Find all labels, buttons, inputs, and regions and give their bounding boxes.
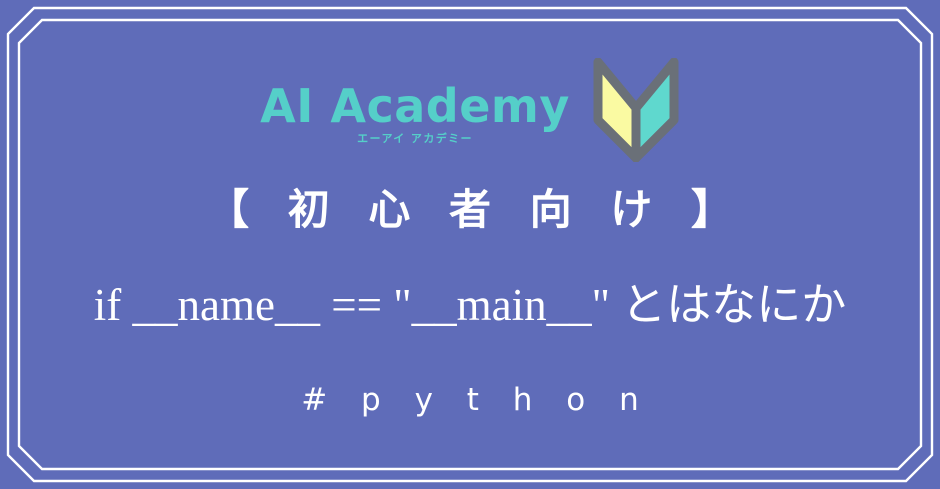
page-title: 【 初 心 者 向 け 】 <box>0 183 940 237</box>
logo-wordmark: AI Academy <box>260 81 570 131</box>
hashtag-label: # p y t h o n <box>0 380 940 420</box>
logo-lockup: AI Academy エーアイ アカデミー <box>0 58 940 162</box>
wakaba-beginner-mark-icon <box>592 58 680 162</box>
slide-card: AI Academy エーアイ アカデミー 【 初 心 者 向 け 】 if _… <box>0 0 940 489</box>
logo-kana-subtitle: エーアイ アカデミー <box>260 132 570 145</box>
wakaba-right-leaf <box>636 62 674 158</box>
wakaba-left-leaf <box>598 62 636 158</box>
logo-text-group: AI Academy エーアイ アカデミー <box>260 81 570 145</box>
subject-line: if __name__ == "__main__" とはなにか <box>0 276 940 334</box>
